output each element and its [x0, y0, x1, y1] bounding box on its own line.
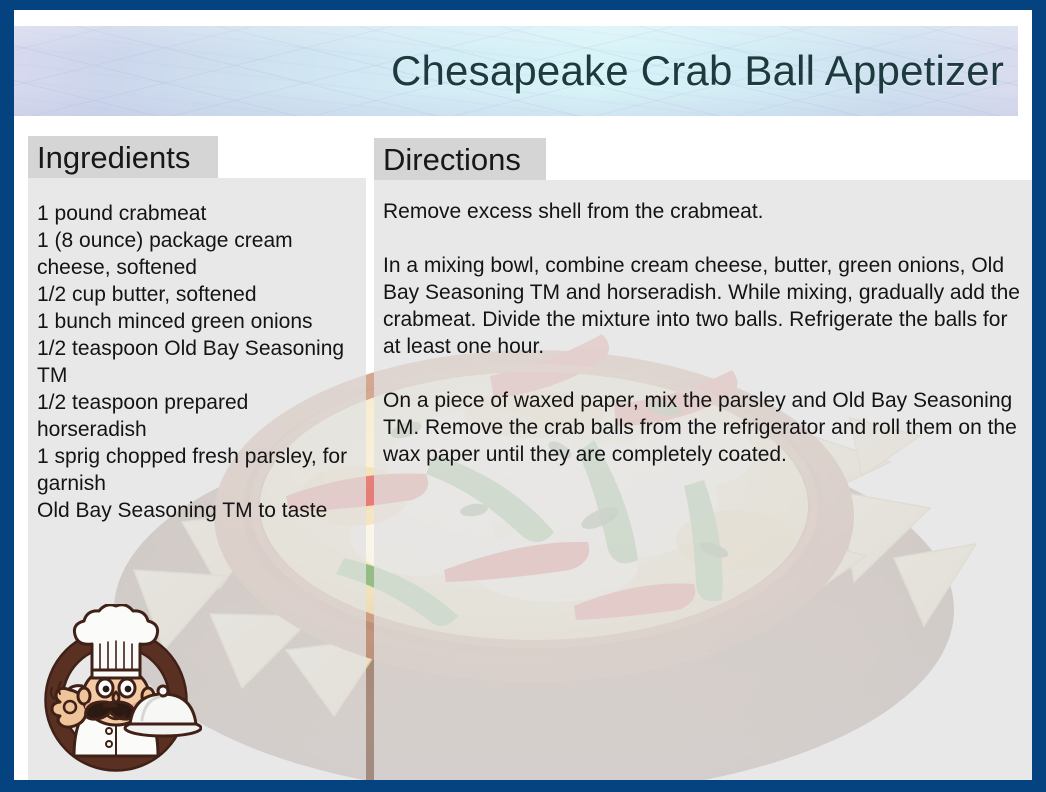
list-item: 1 pound crabmeat: [37, 200, 352, 227]
directions-list: Remove excess shell from the crabmeat. I…: [383, 198, 1020, 468]
ingredients-list: 1 pound crabmeat 1 (8 ounce) package cre…: [37, 200, 352, 524]
list-item: 1/2 teaspoon prepared horseradish: [37, 389, 352, 443]
recipe-card: Chesapeake Crab Ball Appetizer Ingredien…: [0, 0, 1046, 792]
list-item: Old Bay Seasoning TM to taste: [37, 497, 352, 524]
card-inner-surface: Chesapeake Crab Ball Appetizer Ingredien…: [14, 10, 1032, 780]
directions-section-header: Directions: [374, 138, 546, 180]
list-item: 1/2 cup butter, softened: [37, 281, 352, 308]
title-banner: Chesapeake Crab Ball Appetizer: [14, 26, 1018, 116]
list-item: 1/2 teaspoon Old Bay Seasoning TM: [37, 335, 352, 389]
list-item: On a piece of waxed paper, mix the parsl…: [383, 387, 1020, 468]
list-item: Remove excess shell from the crabmeat.: [383, 198, 1020, 225]
list-item: 1 (8 ounce) package cream cheese, soften…: [37, 227, 352, 281]
list-item: In a mixing bowl, combine cream cheese, …: [383, 252, 1020, 360]
list-item: 1 bunch minced green onions: [37, 308, 352, 335]
page-title: Chesapeake Crab Ball Appetizer: [391, 47, 1004, 95]
directions-heading: Directions: [374, 138, 546, 180]
ingredients-section-header: Ingredients: [28, 136, 218, 178]
directions-panel: Remove excess shell from the crabmeat. I…: [374, 180, 1032, 780]
list-item: 1 sprig chopped fresh parsley, for garni…: [37, 443, 352, 497]
ingredients-heading: Ingredients: [28, 136, 218, 178]
chef-mascot-logo: [30, 604, 202, 772]
